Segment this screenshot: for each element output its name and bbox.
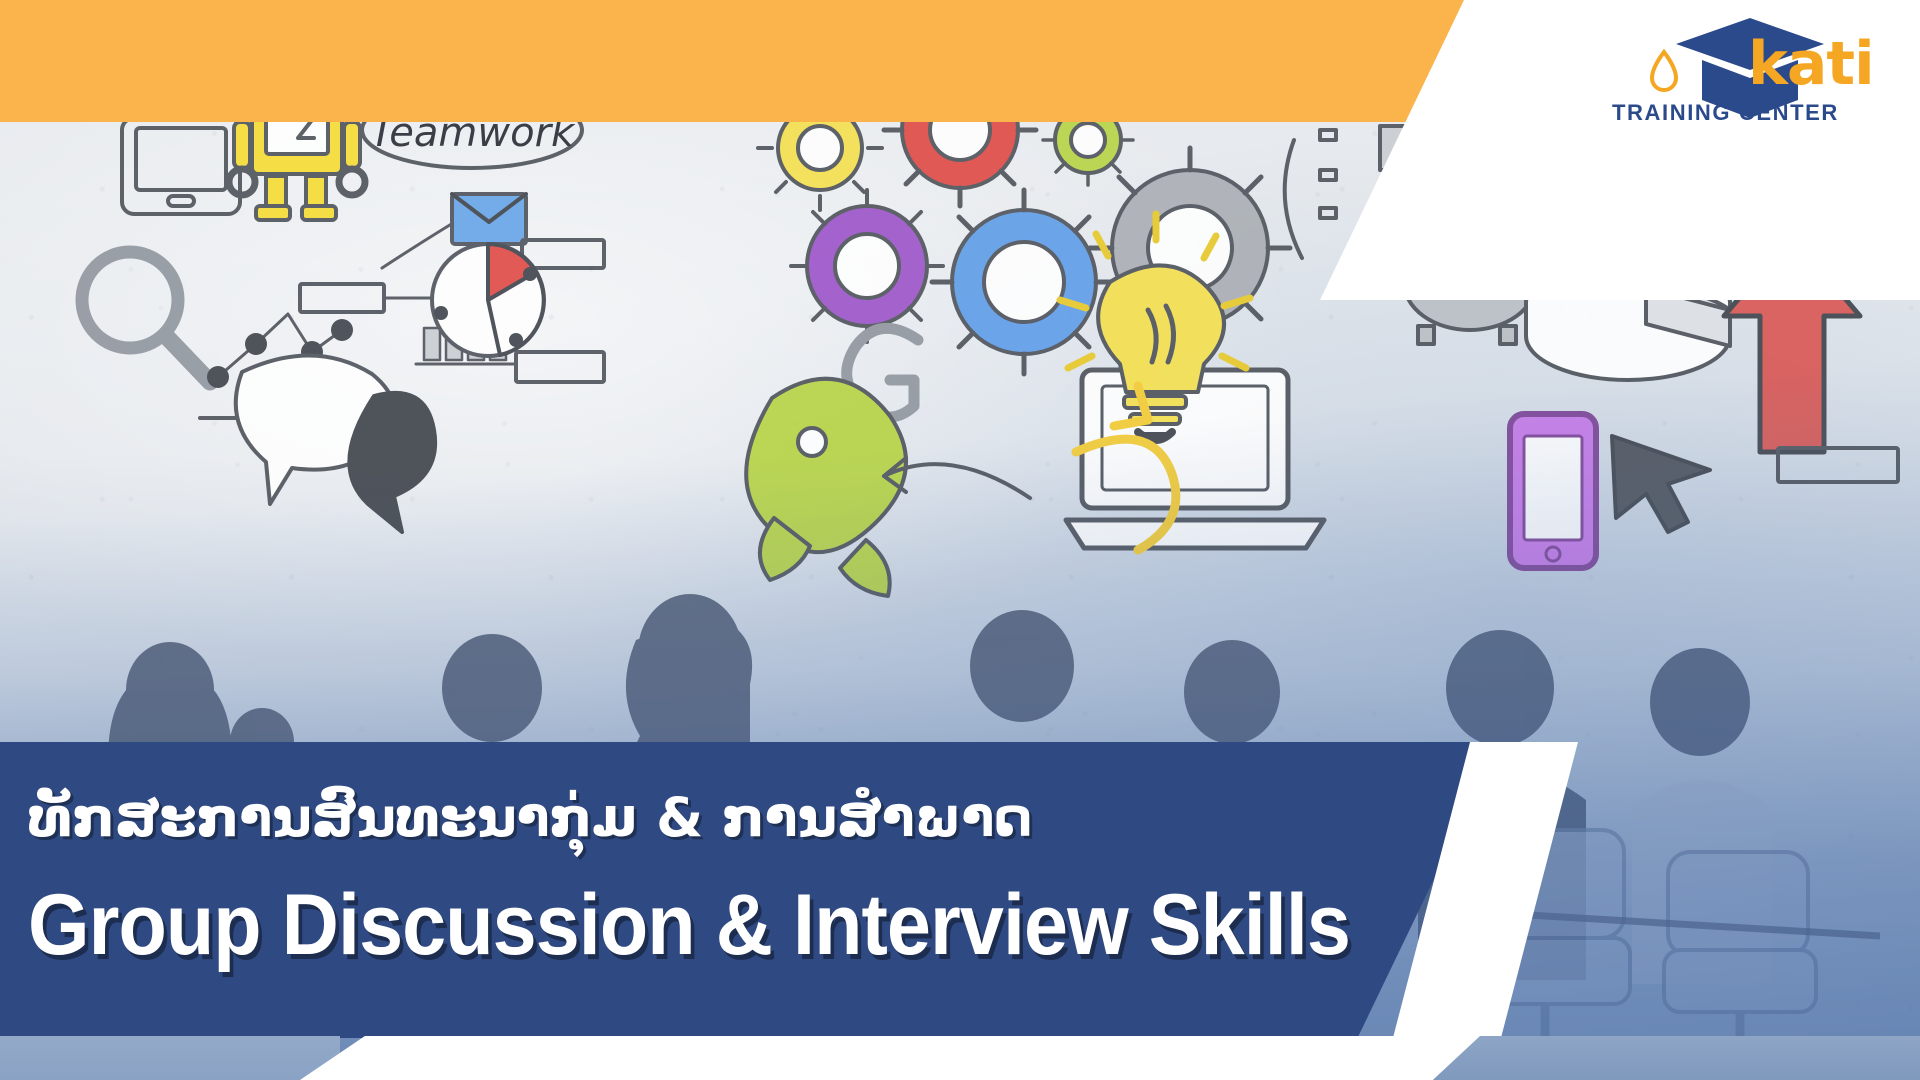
kati-logo[interactable]: kati TRAINING CENTER	[1598, 8, 1898, 126]
course-banner: Teamwork 30%	[0, 0, 1920, 1080]
logo-brand-text: kati	[1748, 34, 1874, 94]
title-lao: ທັກສະການສົນທະນາກຸ່ມ & ການສຳພາດ	[28, 790, 1208, 847]
bottom-right-fill	[1420, 1036, 1920, 1080]
bottom-left-fill	[0, 1036, 340, 1080]
title-english: Group Discussion & Interview Skills	[28, 880, 1316, 970]
logo-tagline-text: TRAINING CENTER	[1612, 100, 1839, 126]
bottom-white-plate	[300, 1036, 1480, 1080]
